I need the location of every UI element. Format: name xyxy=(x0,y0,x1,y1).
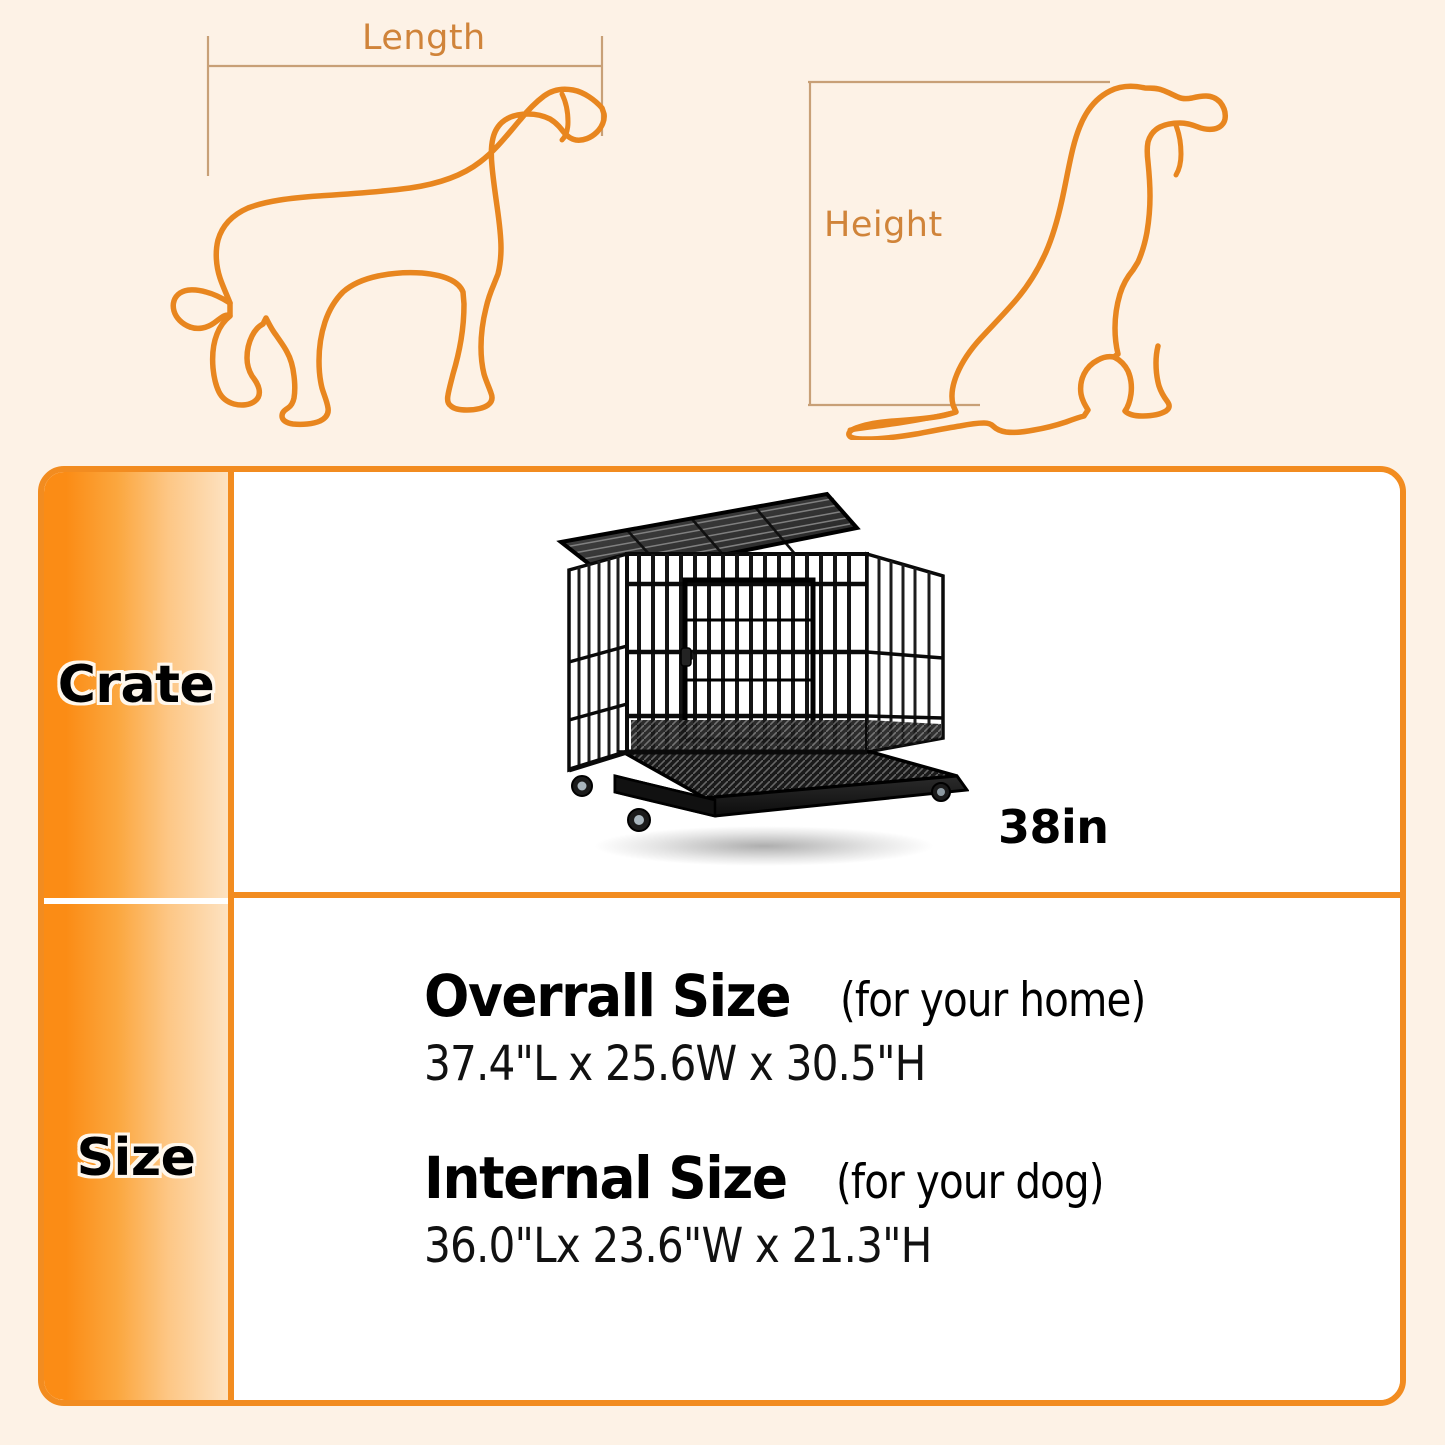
dog-sitting-outline-icon xyxy=(780,60,1230,440)
row-label-size: Size xyxy=(44,904,228,1406)
spec-table-label-column: Crate Size xyxy=(44,472,234,1400)
overall-size-note: (for your home) xyxy=(840,973,1145,1028)
spec-overall: Overrall Size (for your home) 37.4"L x 2… xyxy=(424,962,1384,1092)
internal-size-heading: Internal Size xyxy=(424,1144,787,1212)
crate-label-text: Crate xyxy=(58,655,215,715)
spec-internal: Internal Size (for your dog) 36.0"Lx 23.… xyxy=(424,1144,1384,1274)
internal-size-value: 36.0"Lx 23.6"W x 21.3"H xyxy=(424,1218,1269,1274)
spec-spacer xyxy=(424,1092,1384,1144)
spec-table: Crate Size xyxy=(38,466,1406,1406)
crate-row-content: 38in xyxy=(234,472,1406,898)
size-specs-list: Overrall Size (for your home) 37.4"L x 2… xyxy=(424,962,1384,1274)
internal-size-note: (for your dog) xyxy=(836,1155,1104,1210)
size-label-text: Size xyxy=(77,1128,196,1188)
infographic-canvas: Length Height xyxy=(0,0,1445,1445)
height-dimension-lines xyxy=(808,82,1110,405)
length-dimension-lines xyxy=(208,36,602,176)
heavy-duty-dog-crate-icon xyxy=(539,480,969,872)
row-label-crate: Crate xyxy=(44,472,228,898)
dog-standing-outline-icon xyxy=(170,28,640,428)
size-row-content: Overrall Size (for your home) 37.4"L x 2… xyxy=(234,904,1406,1406)
overall-size-heading: Overrall Size xyxy=(424,962,790,1030)
overall-size-value: 37.4"L x 25.6W x 30.5"H xyxy=(424,1036,1269,1092)
dog-measurement-diagram: Length Height xyxy=(0,0,1445,455)
crate-measure-label: 38in xyxy=(998,800,1109,854)
